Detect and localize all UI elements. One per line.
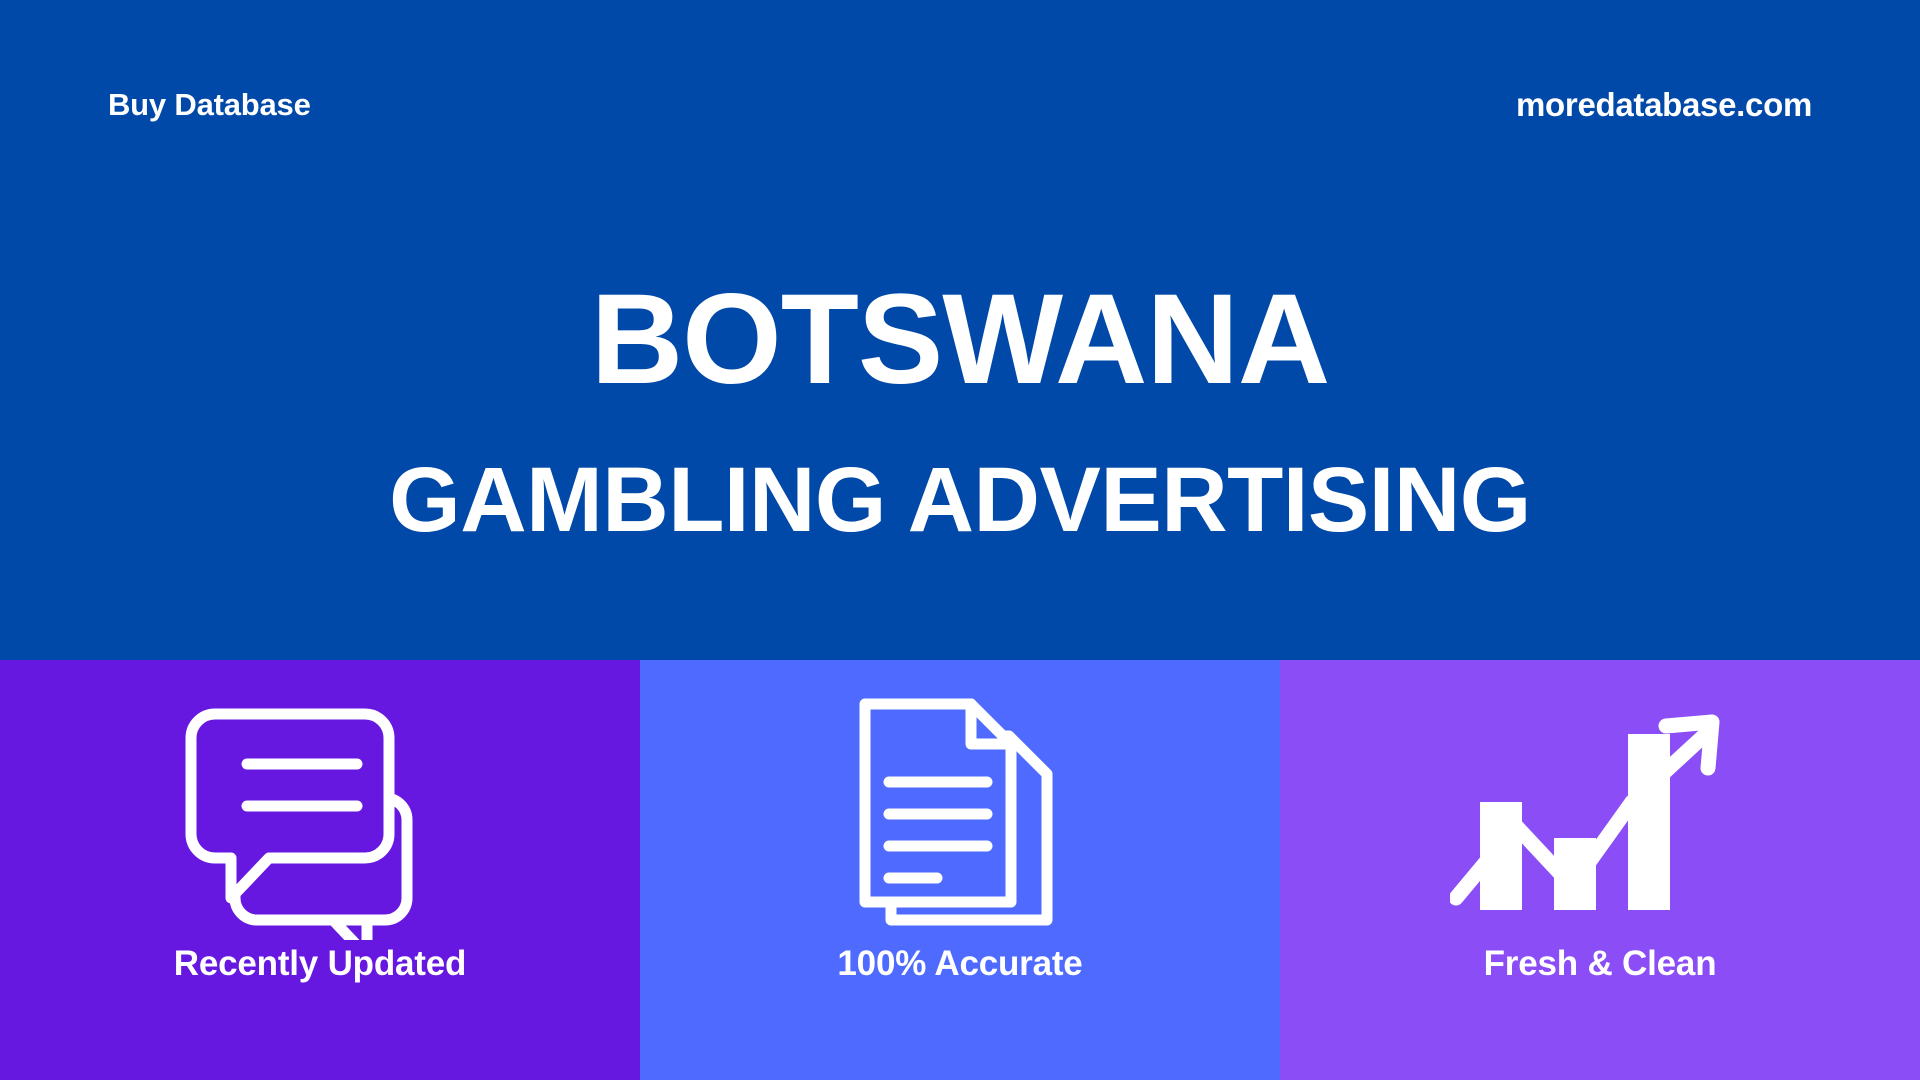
feature-panel-recently-updated: Recently Updated xyxy=(0,660,640,1080)
feature-panel-accurate: 100% Accurate xyxy=(640,660,1280,1080)
website-url: moredatabase.com xyxy=(1516,86,1812,124)
growth-chart-icon xyxy=(1450,690,1750,940)
feature-panels: Recently Updated 100% Accurate xyxy=(0,660,1920,1080)
brand-row: Buy Database moredatabase.com xyxy=(0,0,1920,210)
banner-header: Buy Database moredatabase.com BOTSWANA G… xyxy=(0,0,1920,660)
feature-label: Recently Updated xyxy=(174,944,466,984)
page-subtitle: GAMBLING ADVERTISING xyxy=(0,454,1920,546)
promotional-banner: Buy Database moredatabase.com BOTSWANA G… xyxy=(0,0,1920,1080)
document-pages-icon xyxy=(845,690,1075,940)
chat-bubbles-icon xyxy=(185,690,455,940)
feature-label: 100% Accurate xyxy=(837,944,1082,984)
page-title: BOTSWANA xyxy=(0,276,1920,404)
title-block: BOTSWANA GAMBLING ADVERTISING xyxy=(0,276,1920,546)
feature-label: Fresh & Clean xyxy=(1484,944,1717,984)
feature-panel-fresh-clean: Fresh & Clean xyxy=(1280,660,1920,1080)
brand-name: Buy Database xyxy=(108,87,311,123)
